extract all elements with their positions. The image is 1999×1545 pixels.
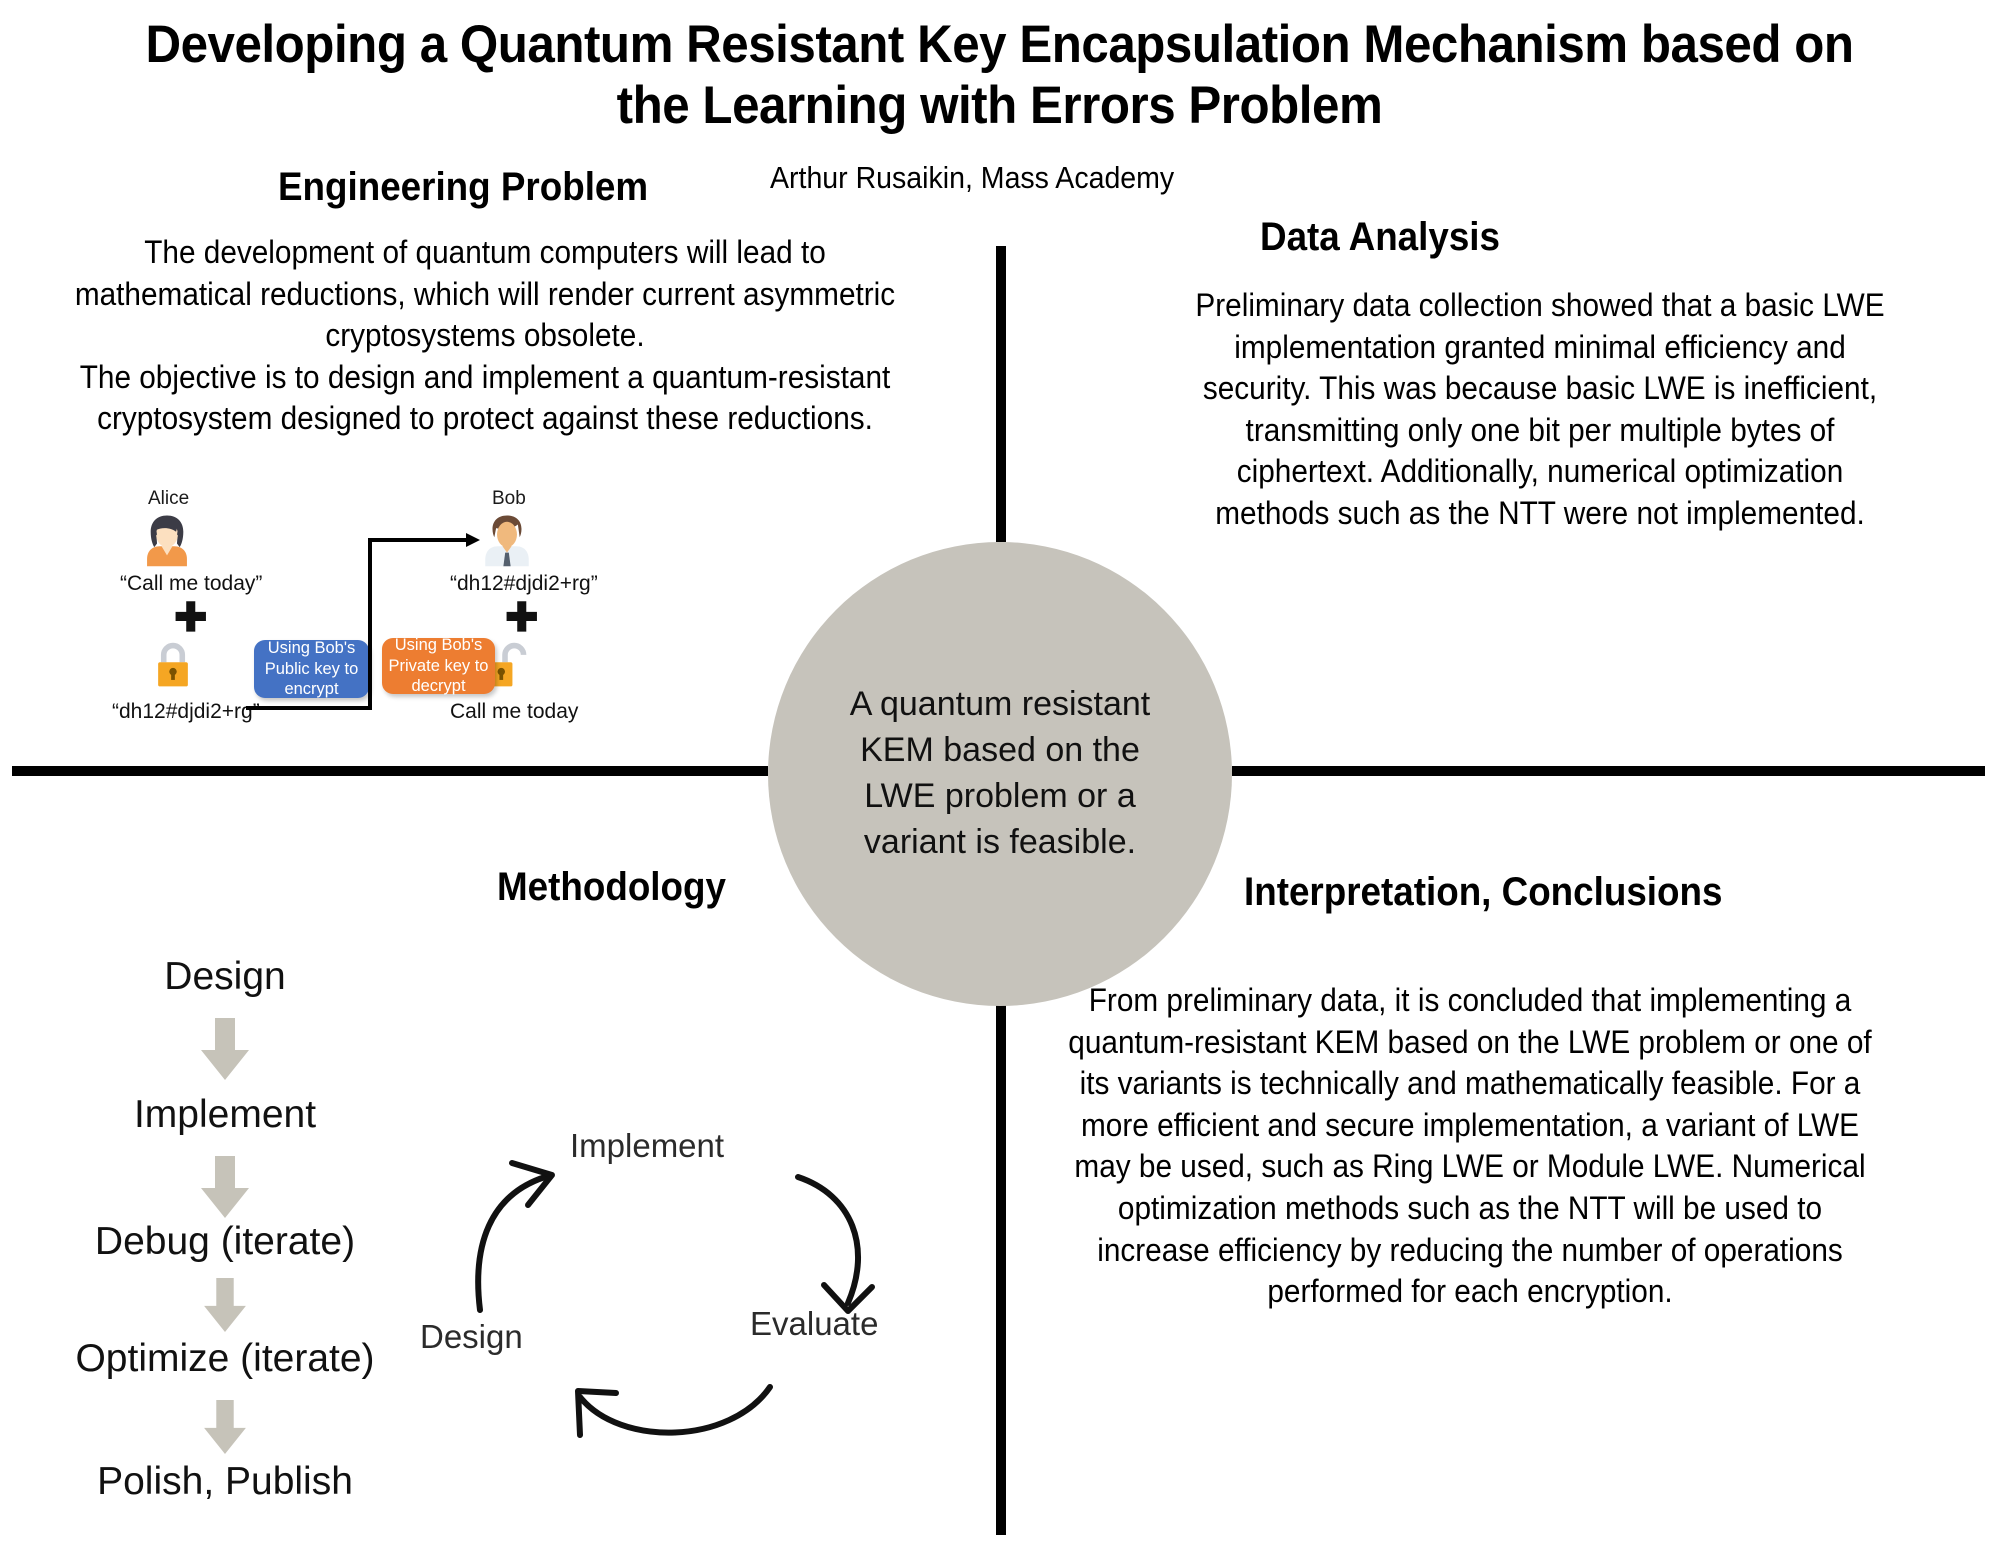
alice-avatar-icon (138, 510, 196, 568)
flow-step-implement: Implement (134, 1093, 316, 1137)
text-engineering-problem: The development of quantum computers wil… (62, 232, 908, 440)
alice-plaintext: “Call me today” (120, 572, 262, 596)
down-arrow-icon (197, 1018, 253, 1080)
bob-plus-symbol: ✚ (505, 598, 539, 638)
ciphertext-route-horizontal-top (368, 538, 472, 542)
flow-step-design: Design (164, 955, 285, 999)
bob-ciphertext: “dh12#djdi2+rg” (450, 572, 598, 596)
divider-vertical-top (996, 246, 1006, 542)
text-data-analysis: Preliminary data collection showed that … (1177, 285, 1902, 535)
alice-plus-symbol: ✚ (174, 598, 208, 638)
bob-plaintext: Call me today (450, 700, 578, 724)
divider-horizontal-left (12, 766, 768, 776)
down-arrow-icon (197, 1156, 253, 1218)
flow-step-optimize: Optimize (iterate) (75, 1337, 374, 1381)
poster-canvas: Developing a Quantum Resistant Key Encap… (0, 0, 1999, 1545)
central-conclusion-text: A quantum resistant KEM based on the LWE… (835, 682, 1165, 866)
bob-label: Bob (492, 488, 526, 510)
divider-horizontal-right (1232, 766, 1985, 776)
central-conclusion-circle: A quantum resistant KEM based on the LWE… (768, 542, 1232, 1006)
cycle-arrows-icon (420, 1125, 960, 1445)
alice-ciphertext: “dh12#djdi2+rg” (112, 700, 260, 724)
down-arrow-icon (197, 1278, 253, 1332)
divider-vertical-bottom (996, 1004, 1006, 1535)
bob-avatar-icon (478, 510, 536, 568)
heading-data-analysis: Data Analysis (1260, 215, 1500, 260)
heading-engineering-problem: Engineering Problem (278, 165, 648, 210)
public-key-crypto-diagram: Alice “Call me today” ✚ “dh12#djdi2+rg” … (120, 488, 720, 758)
flow-step-debug: Debug (iterate) (95, 1220, 355, 1264)
ciphertext-arrowhead-icon (464, 530, 484, 550)
author-line: Arthur Rusaikin, Mass Academy (770, 160, 1174, 196)
decrypt-key-box: Using Bob's Private key to decrypt (382, 638, 495, 694)
page-title: Developing a Quantum Resistant Key Encap… (107, 14, 1892, 137)
heading-methodology: Methodology (497, 865, 726, 910)
ciphertext-route-vertical (368, 538, 372, 710)
closed-lock-icon (150, 640, 196, 692)
heading-interpretation-conclusions: Interpretation, Conclusions (1244, 870, 1722, 915)
iterative-cycle-diagram: Implement Evaluate Design (420, 1125, 960, 1445)
text-interpretation-conclusions: From preliminary data, it is concluded t… (1061, 980, 1879, 1313)
down-arrow-icon (197, 1400, 253, 1454)
encrypt-key-box: Using Bob's Public key to encrypt (254, 640, 369, 698)
ciphertext-route-horizontal-bottom (246, 706, 372, 710)
alice-label: Alice (148, 488, 189, 510)
flow-step-polish: Polish, Publish (97, 1460, 353, 1504)
